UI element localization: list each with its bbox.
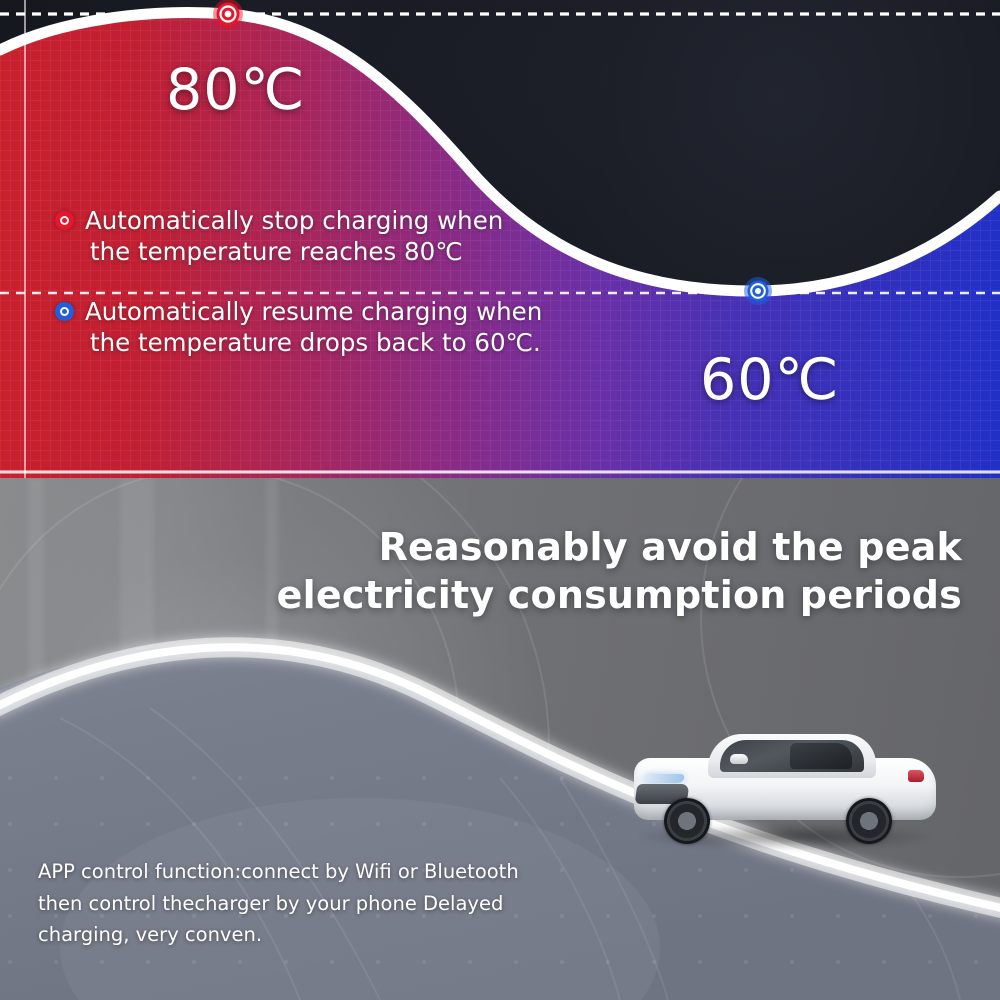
bullet-line-1: Automatically resume charging when: [85, 297, 542, 326]
car-front-wheel: [664, 798, 710, 844]
bullet-line-1: Automatically stop charging when: [85, 206, 503, 235]
cold-temperature-label: 60℃: [700, 352, 840, 409]
bullet-line-2: the temperature drops back to 60℃.: [85, 327, 542, 358]
infographic-page: 80℃ 60℃ Automatically stop charging when…: [0, 0, 1000, 1000]
car-headlight: [643, 774, 686, 783]
caption-line-2: then control thecharger by your phone De…: [38, 888, 558, 920]
trough-marker-icon: [744, 277, 772, 305]
headline-line-2: electricity consumption periods: [277, 572, 962, 620]
stop-charging-bullet-icon: [55, 211, 74, 230]
hot-temperature-label: 80℃: [166, 62, 306, 119]
bullet-text-resume-charging: Automatically resume charging when the t…: [85, 296, 542, 358]
headline-line-1: Reasonably avoid the peak: [379, 525, 962, 569]
car-rear-window: [790, 743, 852, 769]
car-taillight: [908, 770, 924, 782]
headline-text: Reasonably avoid the peak electricity co…: [277, 524, 962, 619]
electric-car-photo: [622, 722, 952, 862]
car-rear-wheel: [846, 798, 892, 844]
temperature-chart-panel: 80℃ 60℃ Automatically stop charging when…: [0, 0, 1000, 480]
threshold-bullet-list: Automatically stop charging when the tem…: [55, 205, 675, 387]
bullet-line-2: the temperature reaches 80℃: [85, 236, 503, 267]
bullet-text-stop-charging: Automatically stop charging when the tem…: [85, 205, 503, 267]
car-side-mirror: [730, 754, 748, 764]
bullet-item-stop-charging: Automatically stop charging when the tem…: [55, 205, 675, 267]
peak-marker-icon: [213, 0, 243, 29]
bullet-item-resume-charging: Automatically resume charging when the t…: [55, 296, 675, 358]
caption-line-3: charging, very conven.: [38, 919, 558, 951]
caption-line-1: APP control function:connect by Wifi or …: [38, 856, 558, 888]
resume-charging-bullet-icon: [55, 302, 74, 321]
app-control-caption: APP control function:connect by Wifi or …: [38, 856, 558, 951]
